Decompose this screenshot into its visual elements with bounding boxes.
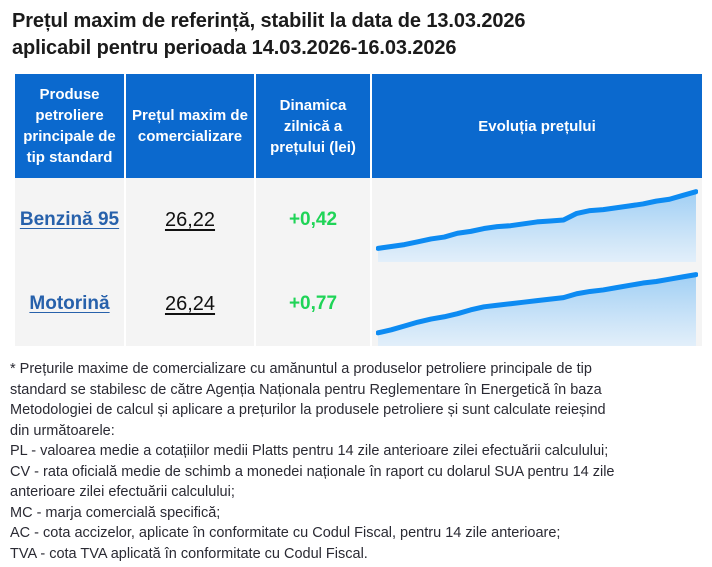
footnote-line: PL - valoarea medie a cotațiilor medii P…	[10, 441, 702, 462]
product-link-benzina-95[interactable]: Benzină 95	[20, 209, 119, 230]
cell-product: Motorină	[15, 262, 124, 346]
max-price-value: 26,22	[165, 209, 215, 231]
table-body: Benzină 95 26,22 +0,42	[15, 178, 702, 346]
sparkline-area	[378, 275, 696, 346]
footnote-line: Metodologiei de calcul și aplicare a pre…	[10, 400, 702, 421]
sparkline-svg	[376, 262, 698, 346]
sparkline-chart-motorina	[376, 262, 698, 346]
sparkline-chart-benzina-95	[376, 178, 698, 262]
column-header-evolution: Evoluția prețului	[372, 74, 702, 178]
table-header-row: Produse petroliere principale de tip sta…	[15, 74, 702, 178]
footnote-block: * Prețurile maxime de comercializare cu …	[10, 359, 702, 564]
footnote-line: AC - cota accizelor, aplicate în conform…	[10, 523, 702, 544]
cell-max-price: 26,24	[126, 262, 254, 346]
footnote-line: * Prețurile maxime de comercializare cu …	[10, 359, 702, 380]
footnote-line: TVA - cota TVA aplicată în conformitate …	[10, 544, 702, 565]
cell-evolution	[372, 262, 702, 346]
product-link-motorina[interactable]: Motorină	[29, 293, 109, 314]
price-report-page: Prețul maxim de referință, stabilit la d…	[0, 0, 712, 567]
table-row: Benzină 95 26,22 +0,42	[15, 178, 702, 262]
daily-dynamic-value: +0,77	[289, 293, 337, 314]
footnote-line: din următoarele:	[10, 421, 702, 442]
page-title-line-2: aplicabil pentru perioada 14.03.2026-16.…	[12, 35, 700, 62]
footnote-line: anterioare zilei efectuării calculului;	[10, 482, 702, 503]
max-price-value: 26,24	[165, 293, 215, 315]
footnote-line: MC - marja comercială specifică;	[10, 503, 702, 524]
cell-evolution	[372, 178, 702, 262]
page-title-line-1: Prețul maxim de referință, stabilit la d…	[12, 8, 700, 35]
column-header-max-price: Prețul maxim de comercializare	[126, 74, 254, 178]
table-header: Produse petroliere principale de tip sta…	[15, 74, 702, 178]
cell-product: Benzină 95	[15, 178, 124, 262]
cell-daily-dynamic: +0,77	[256, 262, 370, 346]
table-row: Motorină 26,24 +0,77	[15, 262, 702, 346]
fuel-price-table: Produse petroliere principale de tip sta…	[13, 74, 704, 346]
cell-max-price: 26,22	[126, 178, 254, 262]
sparkline-svg	[376, 178, 698, 262]
page-title: Prețul maxim de referință, stabilit la d…	[0, 0, 712, 62]
cell-daily-dynamic: +0,42	[256, 178, 370, 262]
footnote-line: standard se stabilesc de către Agenția N…	[10, 380, 702, 401]
column-header-product: Produse petroliere principale de tip sta…	[15, 74, 124, 178]
column-header-daily-dynamic: Dinamica zilnică a prețului (lei)	[256, 74, 370, 178]
footnote-line: CV - rata oficială medie de schimb a mon…	[10, 462, 702, 483]
daily-dynamic-value: +0,42	[289, 209, 337, 230]
